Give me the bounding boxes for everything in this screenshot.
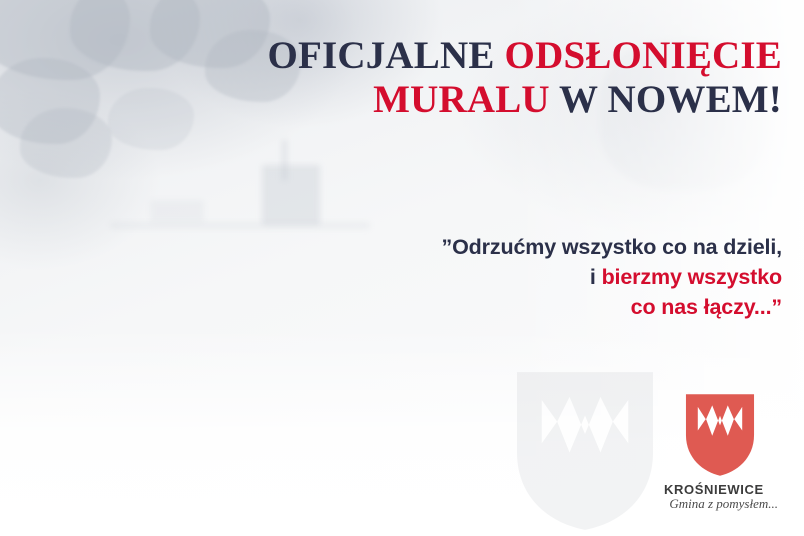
- background-foliage-6: [20, 108, 112, 178]
- background-road: [110, 222, 370, 229]
- quote-line-2-accent: bierzmy wszystko: [602, 265, 782, 289]
- quote-line-2-plain: i: [590, 265, 602, 289]
- logo-municipality-name: KROŚNIEWICE: [660, 482, 780, 497]
- headline-line2-accent: MURALU: [373, 78, 550, 121]
- background-foliage-7: [108, 88, 194, 150]
- poster-root: OFICJALNE ODSŁONIĘCIE MURALU W NOWEM! ”O…: [0, 0, 804, 536]
- page-title: OFICJALNE ODSŁONIĘCIE MURALU W NOWEM!: [252, 34, 782, 122]
- quote-block: ”Odrzućmy wszystko co na dzieli, i bierz…: [342, 232, 782, 322]
- headline-line1-plain: OFICJALNE: [267, 34, 504, 77]
- logo-tagline: Gmina z pomysłem...: [660, 496, 780, 512]
- watermark-crest-icon: [500, 366, 670, 536]
- quote-line-1: ”Odrzućmy wszystko co na dzieli,: [442, 235, 783, 259]
- krosniewice-crest-icon: [683, 392, 757, 478]
- headline-line1-accent: ODSŁONIĘCIE: [505, 34, 782, 77]
- background-vehicle: [150, 200, 204, 222]
- background-building: [262, 165, 320, 225]
- municipality-logo[interactable]: KROŚNIEWICE Gmina z pomysłem...: [660, 392, 780, 512]
- quote-line-3: co nas łączy...”: [631, 295, 782, 319]
- background-post: [282, 140, 287, 180]
- headline-line2-plain: W NOWEM!: [550, 78, 782, 121]
